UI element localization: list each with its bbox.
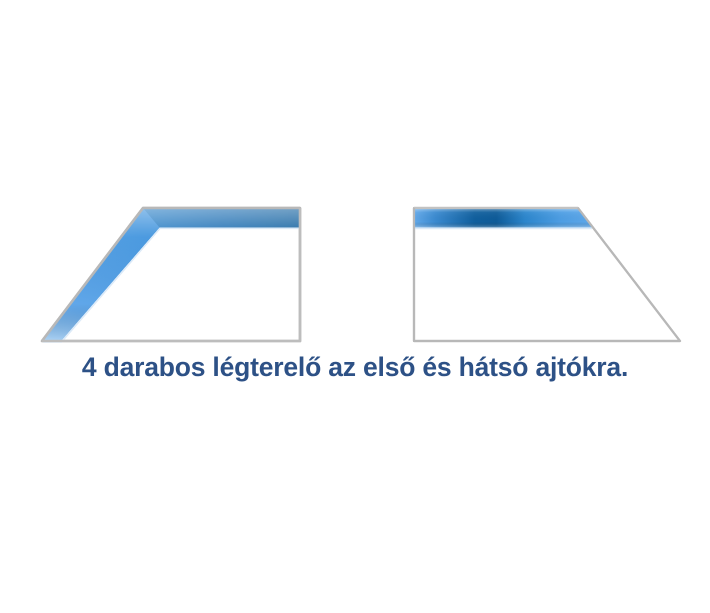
illustration-page: 4 darabos légterelő az első és hátsó ajt… [0, 0, 710, 613]
deflector-illustration-svg [0, 0, 710, 355]
caption-text: 4 darabos légterelő az első és hátsó ajt… [0, 352, 710, 383]
figure-area [0, 0, 710, 355]
front-door-deflector-shape [42, 208, 300, 342]
rear-deflector-band-gloss [414, 208, 593, 228]
rear-door-deflector-shape [414, 208, 680, 341]
